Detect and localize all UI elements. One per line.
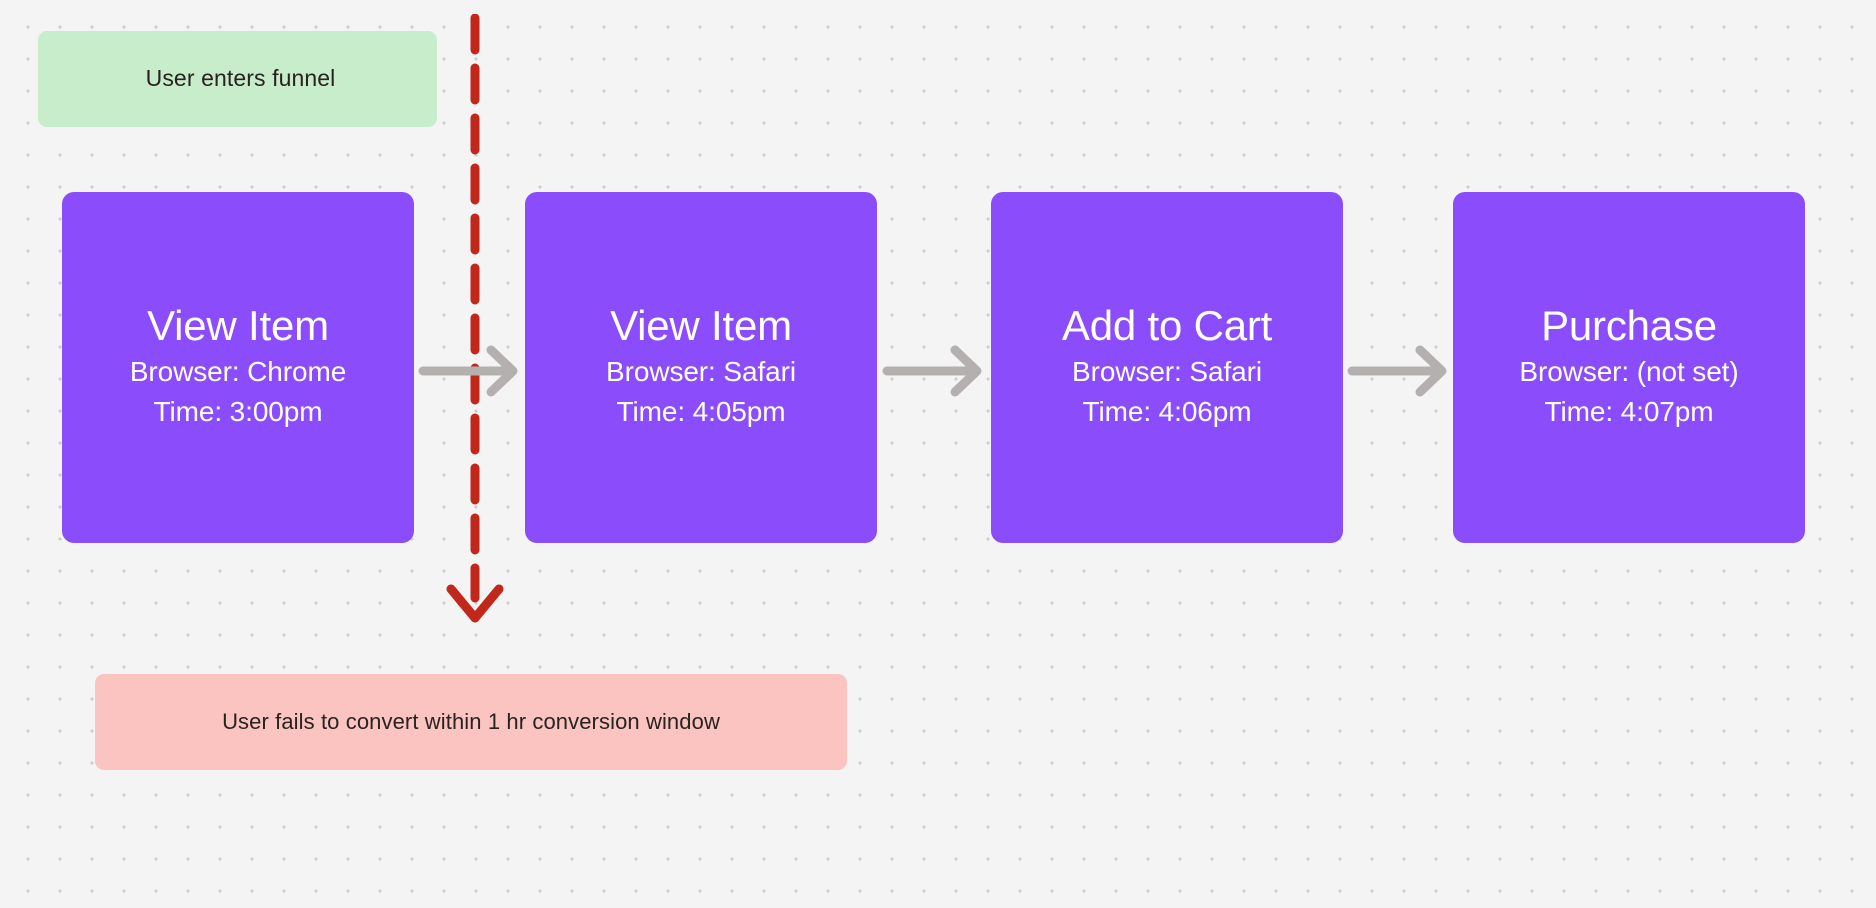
event-card-time: Time: 4:06pm [1083,392,1252,432]
event-card-view-item-chrome[interactable]: View Item Browser: Chrome Time: 3:00pm [62,192,414,543]
flow-arrow-icon-3 [1347,343,1451,399]
dropoff-arrowhead-icon [451,589,499,618]
event-card-purchase[interactable]: Purchase Browser: (not set) Time: 4:07pm [1453,192,1805,543]
flow-arrow-icon-2 [882,343,986,399]
event-card-time: Time: 4:05pm [617,392,786,432]
event-card-title: View Item [610,304,792,348]
annotation-user-enters-funnel: User enters funnel [38,31,437,127]
annotation-user-enters-funnel-label: User enters funnel [140,65,336,93]
event-card-title: Purchase [1541,304,1717,348]
annotation-conversion-window-failure: User fails to convert within 1 hr conver… [95,674,847,770]
event-card-view-item-safari[interactable]: View Item Browser: Safari Time: 4:05pm [525,192,877,543]
event-card-title: View Item [147,304,329,348]
event-card-time: Time: 4:07pm [1545,392,1714,432]
annotation-conversion-window-failure-label: User fails to convert within 1 hr conver… [222,709,720,735]
diagram-canvas: User enters funnel View Item Browser: Ch… [0,0,1876,908]
event-card-add-to-cart[interactable]: Add to Cart Browser: Safari Time: 4:06pm [991,192,1343,543]
event-card-browser: Browser: Safari [1072,352,1262,392]
flow-arrow-icon-1 [418,343,522,399]
event-card-title: Add to Cart [1062,304,1272,348]
event-card-browser: Browser: Safari [606,352,796,392]
event-card-time: Time: 3:00pm [154,392,323,432]
event-card-browser: Browser: (not set) [1519,352,1738,392]
dropoff-dashed-line [444,14,506,662]
event-card-browser: Browser: Chrome [130,352,346,392]
